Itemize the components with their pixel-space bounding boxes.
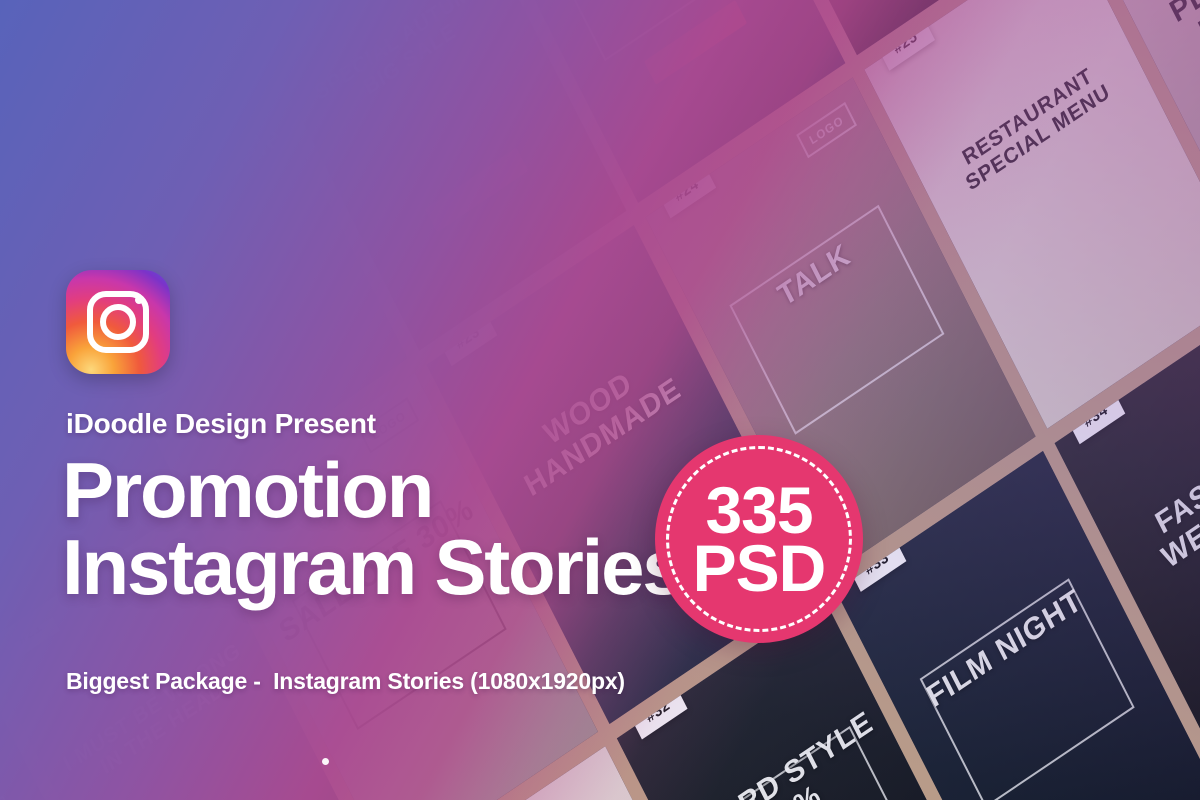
subtitle: Biggest Package - Instagram Stories (108… [66, 668, 625, 695]
badge-text: 335 PSD [655, 435, 863, 643]
present-line: iDoodle Design Present [66, 408, 376, 440]
promo-banner: SNEAKERLOGO#01CAMERA GEAR#02Love me as y… [0, 0, 1200, 800]
instagram-icon [66, 270, 170, 374]
instagram-icon-lens [100, 304, 136, 340]
promo-content: iDoodle Design Present Promotion Instagr… [0, 0, 1200, 800]
decorative-dot [322, 758, 329, 765]
psd-count-badge: 335 PSD [655, 435, 863, 643]
badge-format: PSD [693, 539, 826, 597]
page-title: Promotion Instagram Stories [62, 452, 684, 606]
instagram-icon-dot [135, 296, 143, 304]
headline-line-2: Instagram Stories [62, 529, 684, 606]
headline-line-1: Promotion [62, 446, 432, 534]
